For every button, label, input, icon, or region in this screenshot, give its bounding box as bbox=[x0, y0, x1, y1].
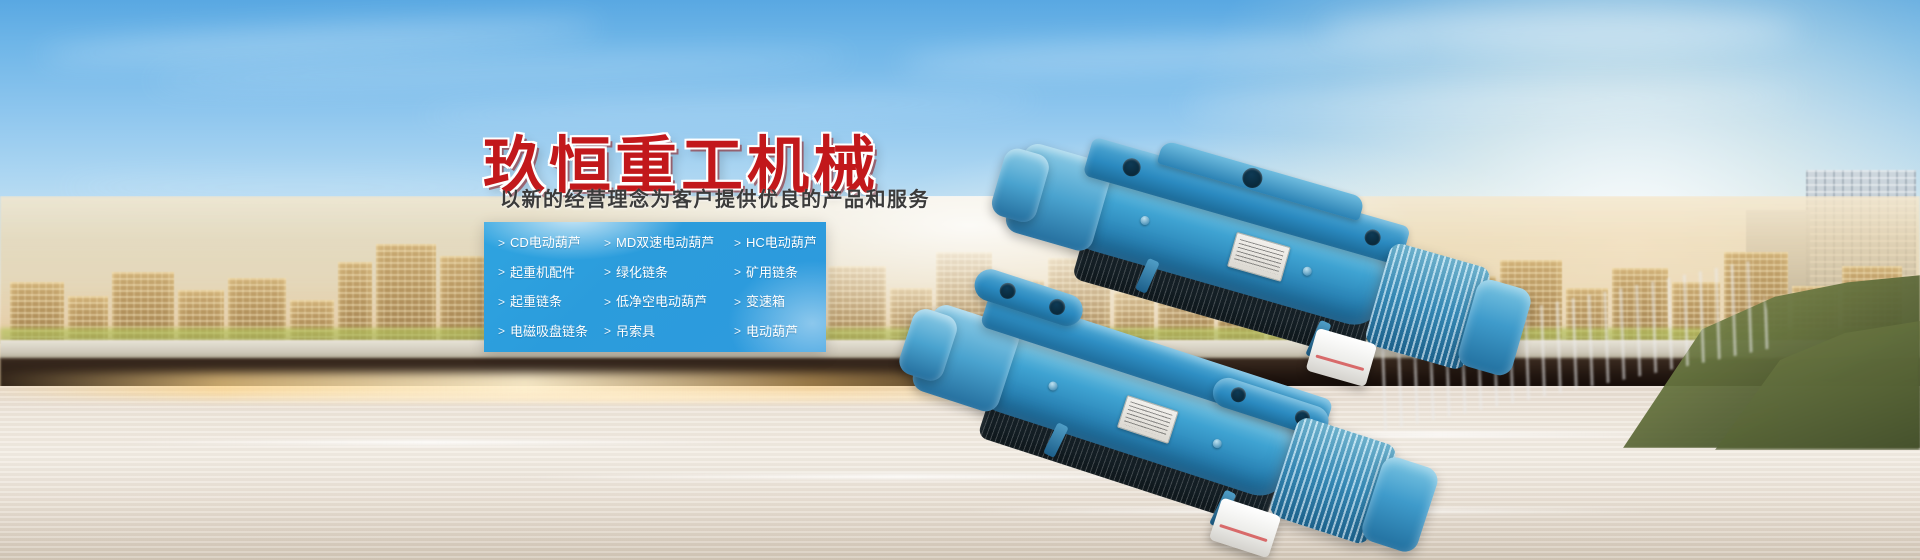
chevron-right-icon: > bbox=[734, 266, 741, 278]
banner-content: 玖恒重工机械 以新的经营理念为客户提供优良的产品和服务 > CD电动葫芦 > M… bbox=[0, 0, 1920, 560]
product-link-label: 起重机配件 bbox=[510, 266, 575, 279]
chevron-right-icon: > bbox=[498, 296, 505, 308]
product-link[interactable]: > 绿化链条 bbox=[604, 266, 734, 279]
product-link[interactable]: > 起重链条 bbox=[498, 295, 604, 308]
chevron-right-icon: > bbox=[604, 266, 611, 278]
product-link[interactable]: > CD电动葫芦 bbox=[498, 236, 604, 249]
product-link[interactable]: > HC电动葫芦 bbox=[734, 236, 840, 249]
product-link[interactable]: > 电磁吸盘链条 bbox=[498, 325, 604, 338]
product-link[interactable]: > 起重机配件 bbox=[498, 266, 604, 279]
chevron-right-icon: > bbox=[604, 325, 611, 337]
product-link-label: 吊索具 bbox=[616, 325, 655, 338]
product-link-label: 变速箱 bbox=[746, 295, 785, 308]
product-link-label: MD双速电动葫芦 bbox=[616, 236, 714, 249]
product-link-label: 起重链条 bbox=[510, 295, 562, 308]
chevron-right-icon: > bbox=[734, 237, 741, 249]
product-link[interactable]: > 吊索具 bbox=[604, 325, 734, 338]
product-link-label: 电磁吸盘链条 bbox=[510, 325, 588, 338]
chevron-right-icon: > bbox=[734, 325, 741, 337]
product-link[interactable]: > 电动葫芦 bbox=[734, 325, 840, 338]
product-links-panel: > CD电动葫芦 > MD双速电动葫芦 > HC电动葫芦 > 起重机配件 > bbox=[484, 222, 826, 352]
product-link[interactable]: > 变速箱 bbox=[734, 295, 840, 308]
product-links-grid: > CD电动葫芦 > MD双速电动葫芦 > HC电动葫芦 > 起重机配件 > bbox=[484, 222, 826, 352]
chevron-right-icon: > bbox=[604, 296, 611, 308]
product-link-label: 矿用链条 bbox=[746, 266, 798, 279]
product-link[interactable]: > 低净空电动葫芦 bbox=[604, 295, 734, 308]
product-link-label: 绿化链条 bbox=[616, 266, 668, 279]
chevron-right-icon: > bbox=[604, 237, 611, 249]
chevron-right-icon: > bbox=[498, 237, 505, 249]
chevron-right-icon: > bbox=[734, 296, 741, 308]
product-link[interactable]: > MD双速电动葫芦 bbox=[604, 236, 734, 249]
chevron-right-icon: > bbox=[498, 325, 505, 337]
product-link-label: 低净空电动葫芦 bbox=[616, 295, 707, 308]
page-subtitle: 以新的经营理念为客户提供优良的产品和服务 bbox=[500, 183, 930, 212]
product-link-label: HC电动葫芦 bbox=[746, 236, 817, 249]
chevron-right-icon: > bbox=[498, 266, 505, 278]
product-link-label: 电动葫芦 bbox=[746, 325, 798, 338]
product-link[interactable]: > 矿用链条 bbox=[734, 266, 840, 279]
product-link-label: CD电动葫芦 bbox=[510, 236, 581, 249]
hero-banner: 玖恒重工机械 以新的经营理念为客户提供优良的产品和服务 > CD电动葫芦 > M… bbox=[0, 0, 1920, 560]
